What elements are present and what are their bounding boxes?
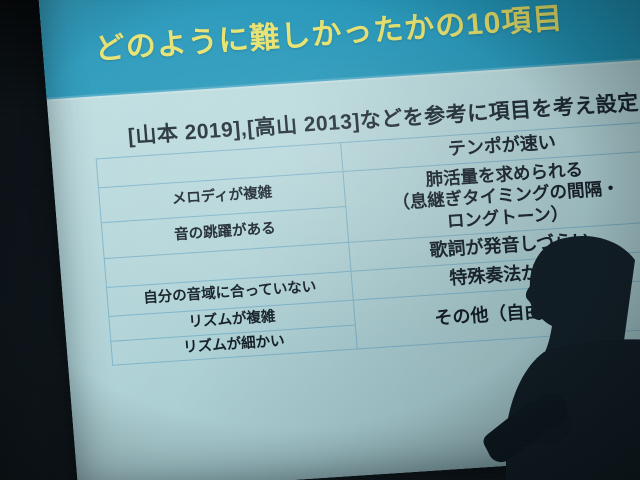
presentation-photo: どのように難しかったかの10項目 [山本 2019],[高山 2013]などを参… [0,0,640,480]
projection-screen: どのように難しかったかの10項目 [山本 2019],[高山 2013]などを参… [36,0,640,480]
difficulty-items-table: テンポが速い メロディが複雑 肺活量を求められる （息継ぎタイミングの間隔・ ロ… [96,121,640,366]
screen-surface: どのように難しかったかの10項目 [山本 2019],[高山 2013]などを参… [36,0,640,480]
